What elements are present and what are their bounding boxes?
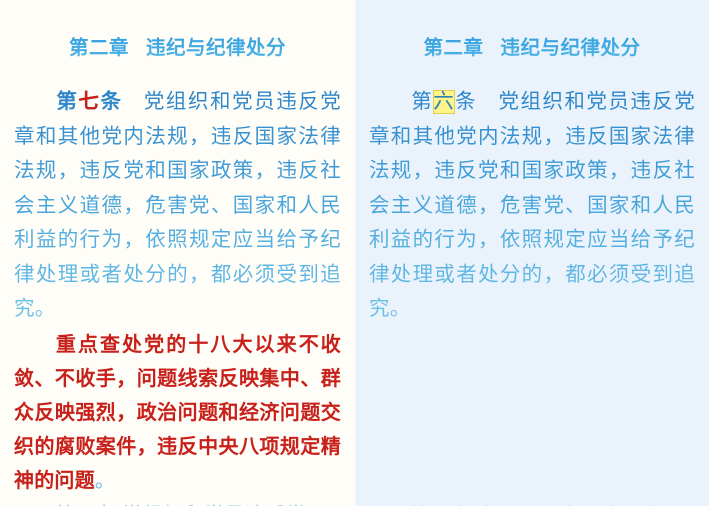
left-clipped-next-line-text: 第八条 党组织和党员违反党: [14, 499, 341, 506]
left-clipped-next-line: 第八条 党组织和党员违反党: [0, 499, 355, 506]
right-chapter-heading: 第二章违纪与纪律处分: [369, 0, 695, 59]
left-chapter-name: 违纪与纪律处分: [146, 36, 286, 59]
right-chapter-prefix: 第二章: [423, 36, 483, 59]
right-article-paragraph: 第六条党组织和党员违反党章和其他党内法规，违反国家法律法规，违反党和国家政策，违…: [369, 85, 695, 327]
left-chapter-heading: 第二章违纪与纪律处分: [14, 0, 341, 59]
right-article-block: 第六条党组织和党员违反党章和其他党内法规，违反国家法律法规，违反党和国家政策，违…: [369, 85, 695, 327]
left-emphasis-paragraph: 重点查处党的十八大以来不收敛、不收手，问题线索反映集中、群众反映强烈，政治问题和…: [14, 327, 341, 498]
right-article-text: 党组织和党员违反党章和其他党内法规，违反国家法律法规，违反党和国家政策，违反社会…: [369, 91, 695, 320]
right-panel-content: 第二章违纪与纪律处分 第六条党组织和党员违反党章和其他党内法规，违反国家法律法规…: [355, 0, 709, 327]
left-panel-content: 第二章违纪与纪律处分 第七条党组织和党员违反党章和其他党内法规，违反国家法律法规…: [0, 0, 355, 498]
panel-divider: [355, 0, 356, 506]
left-emphasis-trailing-period: 。: [95, 470, 115, 492]
left-article-paragraph: 第七条党组织和党员违反党章和其他党内法规，违反国家法律法规，违反党和国家政策，违…: [14, 85, 341, 327]
right-article-number-highlighted: 六: [433, 90, 455, 114]
right-document-panel: 第二章违纪与纪律处分 第六条党组织和党员违反党章和其他党内法规，违反国家法律法规…: [355, 0, 709, 506]
left-chapter-prefix: 第二章: [69, 36, 129, 59]
right-clipped-next-line-text: 第七条 党组织和党员违反党: [369, 500, 695, 506]
left-article-label-post: 条: [100, 91, 122, 113]
right-clipped-next-line: 第七条 党组织和党员违反党: [355, 500, 709, 506]
left-article-block: 第七条党组织和党员违反党章和其他党内法规，违反国家法律法规，违反党和国家政策，违…: [14, 85, 341, 498]
document-comparison-view: 第二章违纪与纪律处分 第七条党组织和党员违反党章和其他党内法规，违反国家法律法规…: [0, 0, 709, 506]
right-article-label-pre: 第: [410, 91, 433, 113]
left-article-label-pre: 第: [55, 91, 78, 113]
left-article-text: 党组织和党员违反党章和其他党内法规，违反国家法律法规，违反党和国家政策，违反社会…: [14, 91, 341, 320]
left-document-panel: 第二章违纪与纪律处分 第七条党组织和党员违反党章和其他党内法规，违反国家法律法规…: [0, 0, 355, 506]
left-article-number: 七: [78, 91, 100, 113]
right-article-label-post: 条: [455, 91, 477, 113]
right-chapter-name: 违纪与纪律处分: [501, 36, 641, 59]
left-emphasis-text: 重点查处党的十八大以来不收敛、不收手，问题线索反映集中、群众反映强烈，政治问题和…: [14, 332, 341, 492]
